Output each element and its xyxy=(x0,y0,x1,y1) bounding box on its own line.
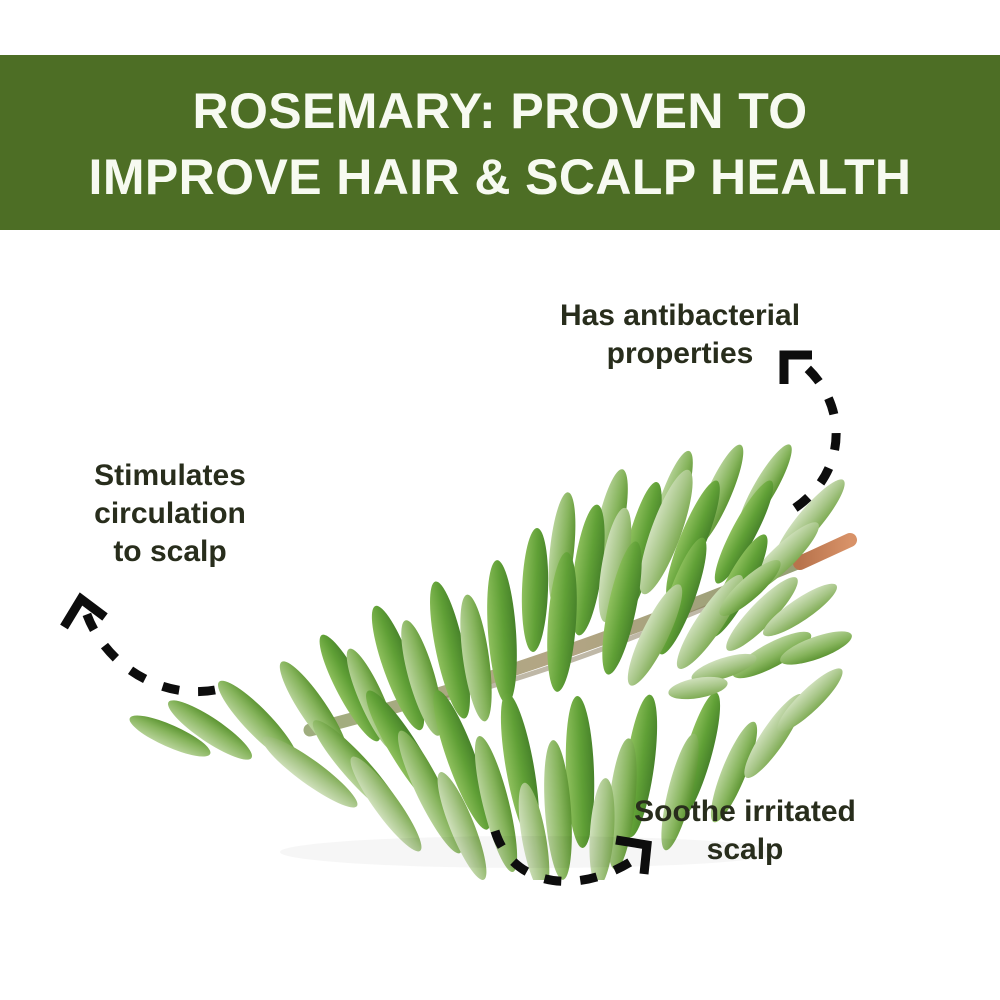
header-banner: ROSEMARY: PROVEN TO IMPROVE HAIR & SCALP… xyxy=(0,55,1000,230)
callout-antibacterial: Has antibacterial properties xyxy=(500,297,860,373)
callout-circulation-line-1: Stimulates xyxy=(40,457,300,495)
callout-circulation-line-3: to scalp xyxy=(40,533,300,571)
callout-antibacterial-line-2: properties xyxy=(500,335,860,373)
callout-soothe-line-2: scalp xyxy=(580,831,910,869)
callout-antibacterial-line-1: Has antibacterial xyxy=(500,297,860,335)
header-title-line-1: ROSEMARY: PROVEN TO xyxy=(192,78,807,144)
callout-soothe: Soothe irritated scalp xyxy=(580,793,910,869)
header-title-line-2: IMPROVE HAIR & SCALP HEALTH xyxy=(89,144,912,210)
callout-soothe-line-1: Soothe irritated xyxy=(580,793,910,831)
infographic-canvas: ROSEMARY: PROVEN TO IMPROVE HAIR & SCALP… xyxy=(0,0,1000,1000)
callout-circulation-line-2: circulation xyxy=(40,495,300,533)
callout-circulation: Stimulates circulation to scalp xyxy=(40,457,300,571)
